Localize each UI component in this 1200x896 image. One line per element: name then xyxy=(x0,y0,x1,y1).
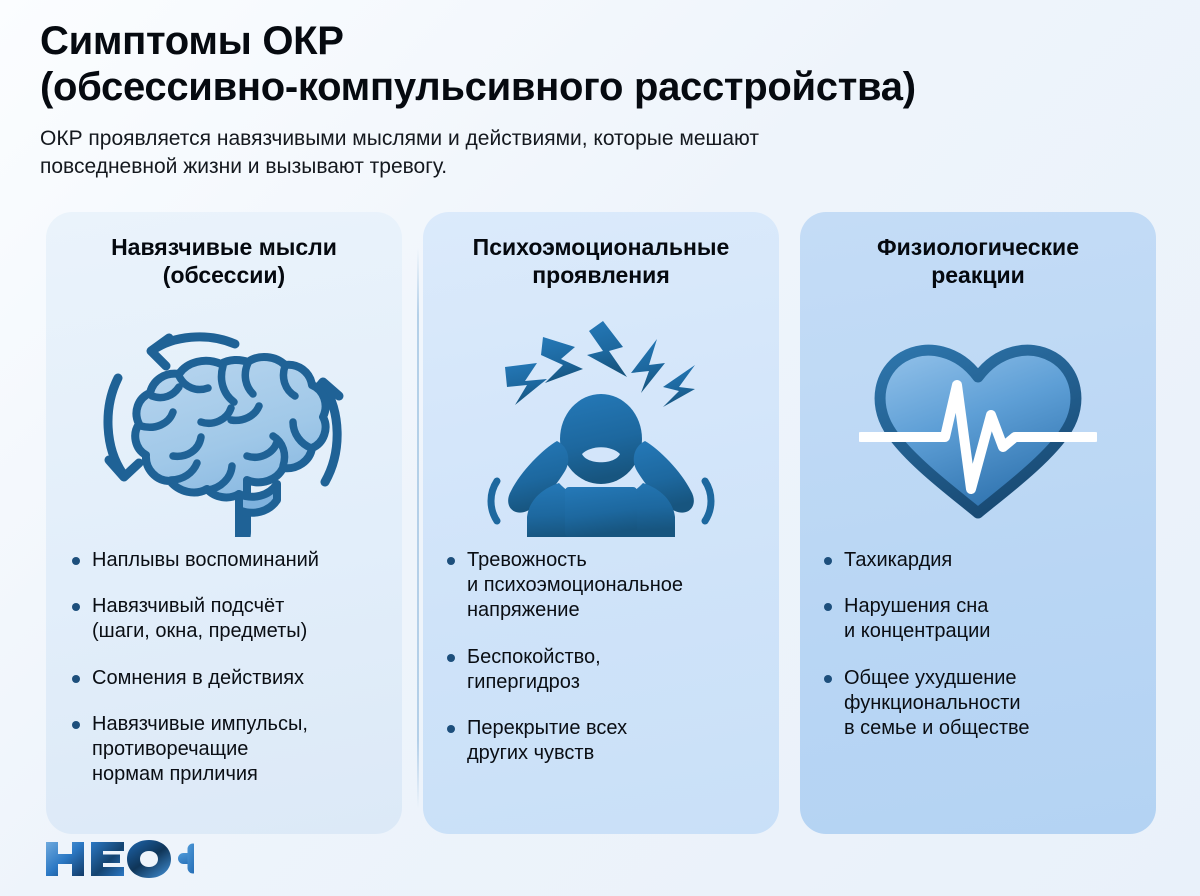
list-item: Беспокойство, гипергидроз xyxy=(445,645,761,695)
bullet-text: Тревожность и психоэмоциональное напряже… xyxy=(467,549,683,621)
bullet-dot-icon xyxy=(824,603,832,611)
bullet-text: Навязчивый подсчёт (шаги, окна, предметы… xyxy=(92,595,307,642)
stressed-person-icon xyxy=(423,310,779,548)
bullet-dot-icon xyxy=(447,654,455,662)
list-item: Нарушения сна и концентрации xyxy=(822,594,1138,644)
bullet-list-3: Тахикардия Нарушения сна и концентрации … xyxy=(800,548,1156,834)
list-item: Общее ухудшение функциональности в семье… xyxy=(822,666,1138,742)
bullet-dot-icon xyxy=(72,557,80,565)
card-title-3: Физиологические реакции xyxy=(818,234,1138,289)
page-title: Симптомы ОКР (обсессивно-компульсивного … xyxy=(40,18,1170,111)
card-title-2: Психоэмоциональные проявления xyxy=(441,234,761,289)
card-physiological: Физиологические реакции xyxy=(800,212,1156,834)
card-header-2: Психоэмоциональные проявления xyxy=(423,212,779,310)
symptom-cards-row: Навязчивые мысли (обсессии) xyxy=(46,212,1156,834)
list-item: Навязчивые импульсы, противоречащие норм… xyxy=(70,712,384,788)
page-subtitle: ОКР проявляется навязчивыми мыслями и де… xyxy=(40,125,1060,181)
bullet-dot-icon xyxy=(447,557,455,565)
bullet-list-2: Тревожность и психоэмоциональное напряже… xyxy=(423,548,779,834)
list-item: Тахикардия xyxy=(822,548,1138,573)
bullet-text: Нарушения сна и концентрации xyxy=(844,595,990,642)
list-item: Наплывы воспоминаний xyxy=(70,548,384,573)
list-item: Навязчивый подсчёт (шаги, окна, предметы… xyxy=(70,594,384,644)
card-header-3: Физиологические реакции xyxy=(800,212,1156,310)
bullet-dot-icon xyxy=(72,675,80,683)
bullet-text: Тахикардия xyxy=(844,549,952,571)
bullet-dot-icon xyxy=(72,721,80,729)
card-header-1: Навязчивые мысли (обсессии) xyxy=(46,212,402,310)
bullet-text: Общее ухудшение функциональности в семье… xyxy=(844,667,1030,739)
bullet-dot-icon xyxy=(447,725,455,733)
heart-pulse-icon xyxy=(800,310,1156,548)
bullet-text: Беспокойство, гипергидроз xyxy=(467,646,601,693)
neo-plus-logo xyxy=(44,838,194,878)
bullet-text: Навязчивые импульсы, противоречащие норм… xyxy=(92,713,308,785)
bullet-text: Перекрытие всех других чувств xyxy=(467,717,627,764)
header: Симптомы ОКР (обсессивно-компульсивного … xyxy=(40,18,1170,181)
card-obsessive-thoughts: Навязчивые мысли (обсессии) xyxy=(46,212,402,834)
list-item: Перекрытие всех других чувств xyxy=(445,716,761,766)
brain-cycle-icon xyxy=(46,310,402,548)
card-psychoemotional: Психоэмоциональные проявления xyxy=(423,212,779,834)
bullet-text: Сомнения в действиях xyxy=(92,667,304,689)
bullet-dot-icon xyxy=(824,675,832,683)
bullet-text: Наплывы воспоминаний xyxy=(92,549,319,571)
list-item: Тревожность и психоэмоциональное напряже… xyxy=(445,548,761,624)
bullet-dot-icon xyxy=(824,557,832,565)
bullet-list-1: Наплывы воспоминаний Навязчивый подсчёт … xyxy=(46,548,402,834)
bullet-dot-icon xyxy=(72,603,80,611)
card-title-1: Навязчивые мысли (обсессии) xyxy=(64,234,384,289)
infographic-page: Симптомы ОКР (обсессивно-компульсивного … xyxy=(0,0,1200,896)
list-item: Сомнения в действиях xyxy=(70,666,384,691)
